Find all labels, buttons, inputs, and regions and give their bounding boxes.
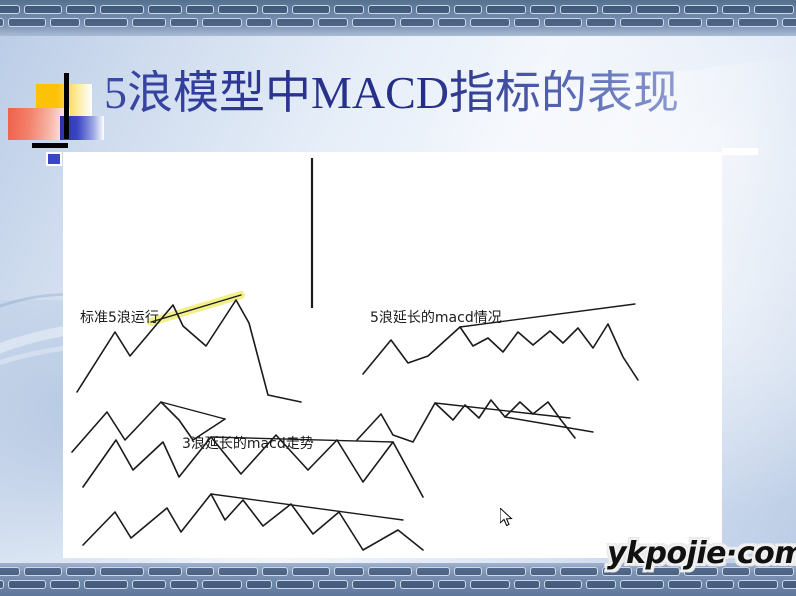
brick-tile bbox=[782, 580, 796, 589]
chart-content-panel: 标准5浪运行 5浪延长的macd情况 3浪延长的macd走势 bbox=[63, 152, 722, 558]
brick-tile bbox=[470, 580, 510, 589]
brick-tile bbox=[560, 567, 598, 576]
mouse-pointer-icon bbox=[500, 508, 514, 528]
brick-tile bbox=[544, 18, 582, 27]
brick-tile bbox=[602, 5, 632, 14]
macd-trendline-falling-2 bbox=[505, 417, 593, 432]
brick-tile bbox=[318, 580, 348, 589]
brick-tile bbox=[352, 18, 396, 27]
decoration-small-blue-square bbox=[46, 152, 62, 166]
brick-tile bbox=[262, 5, 288, 14]
brick-tile bbox=[276, 580, 314, 589]
brick-tile bbox=[276, 18, 314, 27]
chart-label-wave3-extended: 3浪延长的macd走势 bbox=[182, 433, 314, 453]
brick-tile bbox=[0, 18, 4, 27]
brick-tile bbox=[722, 5, 750, 14]
brick-tile bbox=[218, 5, 258, 14]
brick-tile bbox=[318, 18, 348, 27]
brick-tile bbox=[292, 567, 330, 576]
brick-tile bbox=[400, 580, 434, 589]
brick-tile bbox=[84, 580, 128, 589]
brick-tile bbox=[486, 5, 526, 14]
brick-tile bbox=[754, 5, 794, 14]
brick-tile bbox=[50, 580, 80, 589]
brick-tile bbox=[50, 18, 80, 27]
decoration-vertical-bar bbox=[64, 73, 69, 139]
brick-tile bbox=[586, 18, 616, 27]
brick-tile bbox=[782, 18, 796, 27]
brick-tile bbox=[738, 580, 778, 589]
title-area: 5浪模型中MACD指标的表现 bbox=[0, 64, 796, 156]
presentation-slide: 5浪模型中MACD指标的表现 标准5浪运行 5浪延长的macd情况 3浪延长的m… bbox=[0, 0, 796, 596]
brick-tile bbox=[514, 18, 540, 27]
page-title: 5浪模型中MACD指标的表现 bbox=[104, 70, 679, 116]
price-zigzag bbox=[363, 324, 638, 380]
brick-tile bbox=[586, 580, 616, 589]
brick-tile bbox=[202, 18, 242, 27]
brick-tile bbox=[24, 567, 62, 576]
top-brick-border bbox=[0, 0, 796, 36]
brick-tile bbox=[84, 18, 128, 27]
brick-tile bbox=[636, 5, 680, 14]
chart-label-wave5-extended: 5浪延长的macd情况 bbox=[370, 307, 502, 327]
brick-tile bbox=[132, 580, 166, 589]
brick-tile bbox=[400, 18, 434, 27]
brick-tile bbox=[66, 5, 96, 14]
brick-tile bbox=[132, 18, 166, 27]
brick-tile bbox=[620, 18, 664, 27]
brick-tile bbox=[8, 580, 46, 589]
brick-tile bbox=[334, 567, 364, 576]
brick-tile bbox=[684, 5, 718, 14]
brick-tile bbox=[530, 567, 556, 576]
brick-tile bbox=[560, 5, 598, 14]
brick-tile bbox=[0, 580, 4, 589]
brick-tile bbox=[246, 580, 272, 589]
decoration-horizontal-bar bbox=[32, 143, 68, 148]
brick-tile bbox=[706, 18, 734, 27]
brick-tile bbox=[100, 5, 144, 14]
brick-tile bbox=[514, 580, 540, 589]
brick-tile bbox=[706, 580, 734, 589]
brick-tile bbox=[668, 18, 702, 27]
brick-tile bbox=[186, 5, 214, 14]
brick-tile bbox=[486, 567, 526, 576]
panel-edge-tab bbox=[722, 148, 758, 155]
brick-tile bbox=[148, 5, 182, 14]
brick-tile bbox=[66, 567, 96, 576]
brick-tile bbox=[170, 580, 198, 589]
brick-tile bbox=[24, 5, 62, 14]
brick-tile bbox=[352, 580, 396, 589]
brick-tile bbox=[454, 5, 482, 14]
brick-tile bbox=[148, 567, 182, 576]
brick-tile bbox=[368, 567, 412, 576]
chart-label-standard-wave: 标准5浪运行 bbox=[80, 307, 159, 327]
brick-tile bbox=[620, 580, 664, 589]
brick-tile bbox=[438, 18, 466, 27]
brick-tile bbox=[202, 580, 242, 589]
brick-tile bbox=[186, 567, 214, 576]
brick-tile bbox=[530, 5, 556, 14]
brick-tile bbox=[8, 18, 46, 27]
brick-tile bbox=[470, 18, 510, 27]
brick-tile bbox=[438, 580, 466, 589]
macd-zigzag bbox=[83, 494, 423, 550]
brick-tile bbox=[0, 567, 20, 576]
brick-tile bbox=[368, 5, 412, 14]
brick-tile bbox=[292, 5, 330, 14]
brick-tile bbox=[0, 5, 20, 14]
macd-trendline-top bbox=[211, 494, 403, 520]
brick-tile bbox=[454, 567, 482, 576]
brick-tile bbox=[262, 567, 288, 576]
brick-tile bbox=[738, 18, 778, 27]
brick-tile bbox=[218, 567, 258, 576]
brick-tile bbox=[668, 580, 702, 589]
brick-tile bbox=[416, 567, 450, 576]
brick-tile bbox=[416, 5, 450, 14]
site-watermark: ykpojie·com bbox=[607, 536, 796, 571]
brick-tile bbox=[170, 18, 198, 27]
brick-tile bbox=[246, 18, 272, 27]
wave-macd-diagram bbox=[63, 152, 722, 558]
brick-tile bbox=[334, 5, 364, 14]
brick-tile bbox=[544, 580, 582, 589]
price-trendline-highlight bbox=[151, 295, 241, 322]
brick-tile bbox=[100, 567, 144, 576]
